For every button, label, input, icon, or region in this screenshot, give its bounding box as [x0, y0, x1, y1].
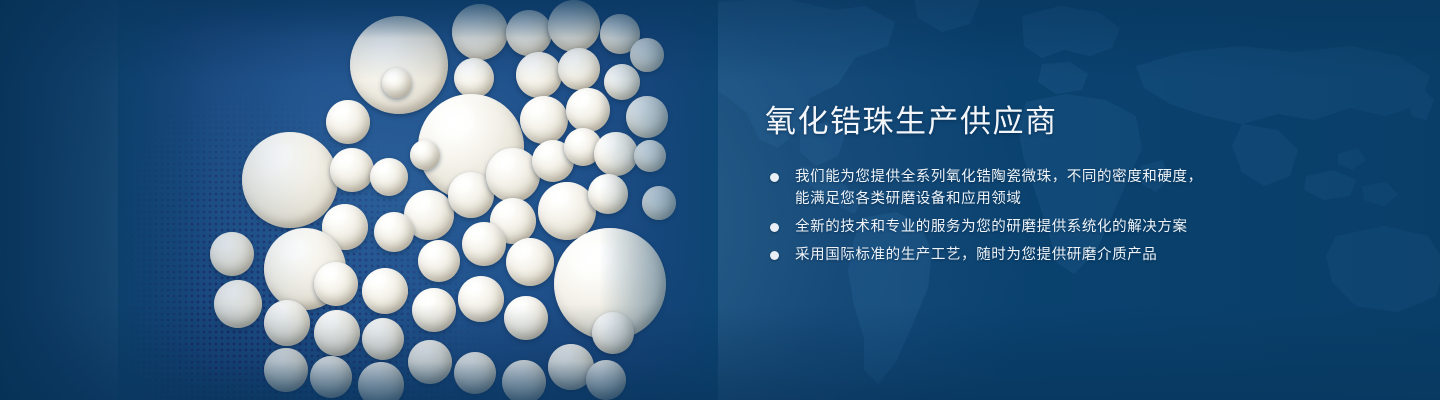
bullet-dot-icon: [770, 223, 779, 232]
bullet-line: 能满足您各类研磨设备和应用领域: [795, 188, 1405, 210]
list-item: 采用国际标准的生产工艺，随时为您提供研磨介质产品: [765, 244, 1405, 266]
list-item: 我们能为您提供全系列氧化锆陶瓷微珠，不同的密度和硬度， 能满足您各类研磨设备和应…: [765, 166, 1405, 210]
bullet-line: 采用国际标准的生产工艺，随时为您提供研磨介质产品: [795, 244, 1405, 266]
bullet-dot-icon: [770, 251, 779, 260]
bullet-line: 全新的技术和专业的服务为您的研磨提供系统化的解决方案: [795, 216, 1405, 238]
bullet-dot-icon: [770, 173, 779, 182]
hero-banner: 氧化锆珠生产供应商 我们能为您提供全系列氧化锆陶瓷微珠，不同的密度和硬度， 能满…: [0, 0, 1440, 400]
feature-bullet-list: 我们能为您提供全系列氧化锆陶瓷微珠，不同的密度和硬度， 能满足您各类研磨设备和应…: [765, 166, 1405, 266]
list-item: 全新的技术和专业的服务为您的研磨提供系统化的解决方案: [765, 216, 1405, 238]
banner-content: 氧化锆珠生产供应商 我们能为您提供全系列氧化锆陶瓷微珠，不同的密度和硬度， 能满…: [765, 105, 1405, 266]
bullet-line: 我们能为您提供全系列氧化锆陶瓷微珠，不同的密度和硬度，: [795, 166, 1405, 188]
banner-headline: 氧化锆珠生产供应商: [765, 105, 1405, 140]
